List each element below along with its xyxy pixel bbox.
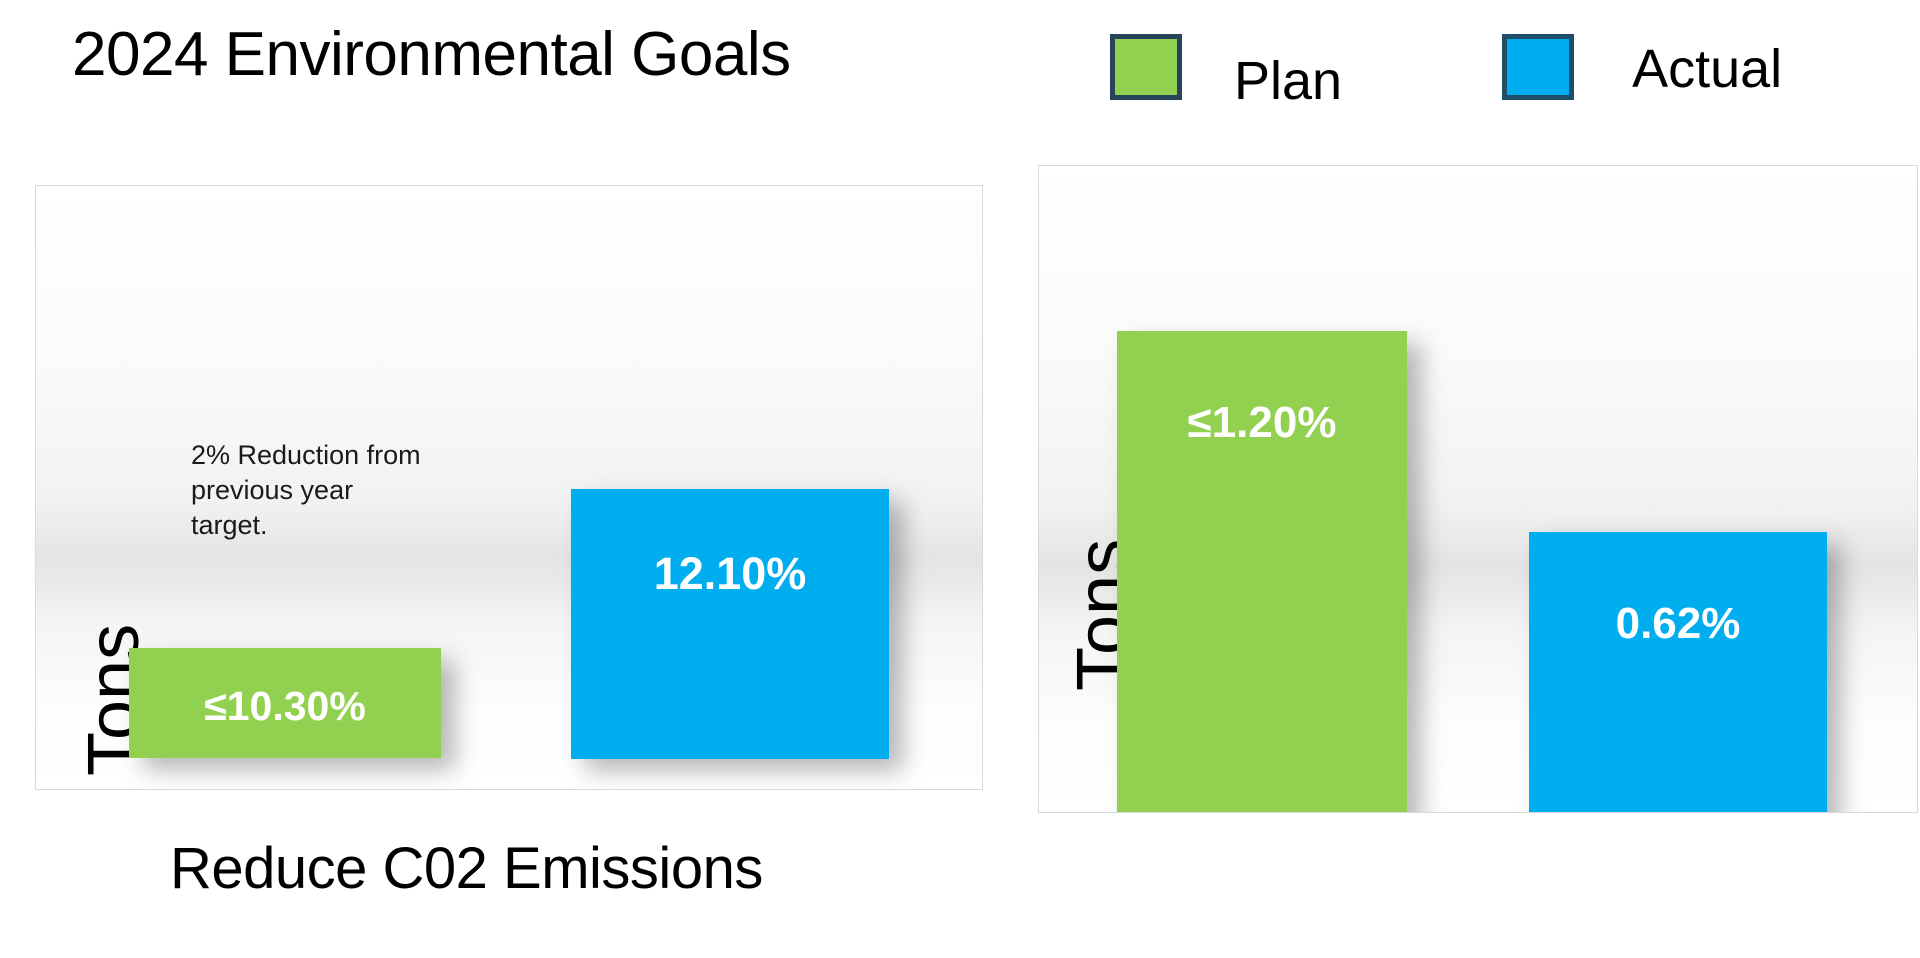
legend-label-plan: Plan (1234, 54, 1342, 108)
bar-value-left-plan: ≤10.30% (204, 686, 366, 727)
legend-swatch-plan-icon (1110, 34, 1182, 100)
chart-caption-left: Reduce C02 Emissions (170, 840, 763, 898)
bar-value-left-actual: 12.10% (654, 551, 807, 596)
chart-panel-left: Tons 2% Reduction from previous year tar… (35, 185, 983, 790)
chart-legend: Plan Actual (1110, 22, 1782, 112)
bar-value-right-plan: ≤1.20% (1188, 401, 1337, 445)
bar-left-actual[interactable]: 12.10% (571, 489, 889, 759)
bar-value-right-actual: 0.62% (1616, 602, 1741, 646)
chart-panel-right: Tons ≤1.20% 0.62% (1038, 165, 1918, 813)
legend-item-actual[interactable]: Actual (1502, 34, 1782, 100)
legend-swatch-actual-icon (1502, 34, 1574, 100)
bar-left-plan[interactable]: ≤10.30% (129, 648, 441, 758)
chart-annotation-note: 2% Reduction from previous year target. (191, 438, 431, 543)
legend-label-actual: Actual (1632, 42, 1782, 96)
bar-right-plan[interactable]: ≤1.20% (1117, 331, 1407, 813)
bar-right-actual[interactable]: 0.62% (1529, 532, 1827, 813)
legend-item-plan[interactable]: Plan (1110, 34, 1342, 100)
page-title: 2024 Environmental Goals (72, 24, 791, 86)
